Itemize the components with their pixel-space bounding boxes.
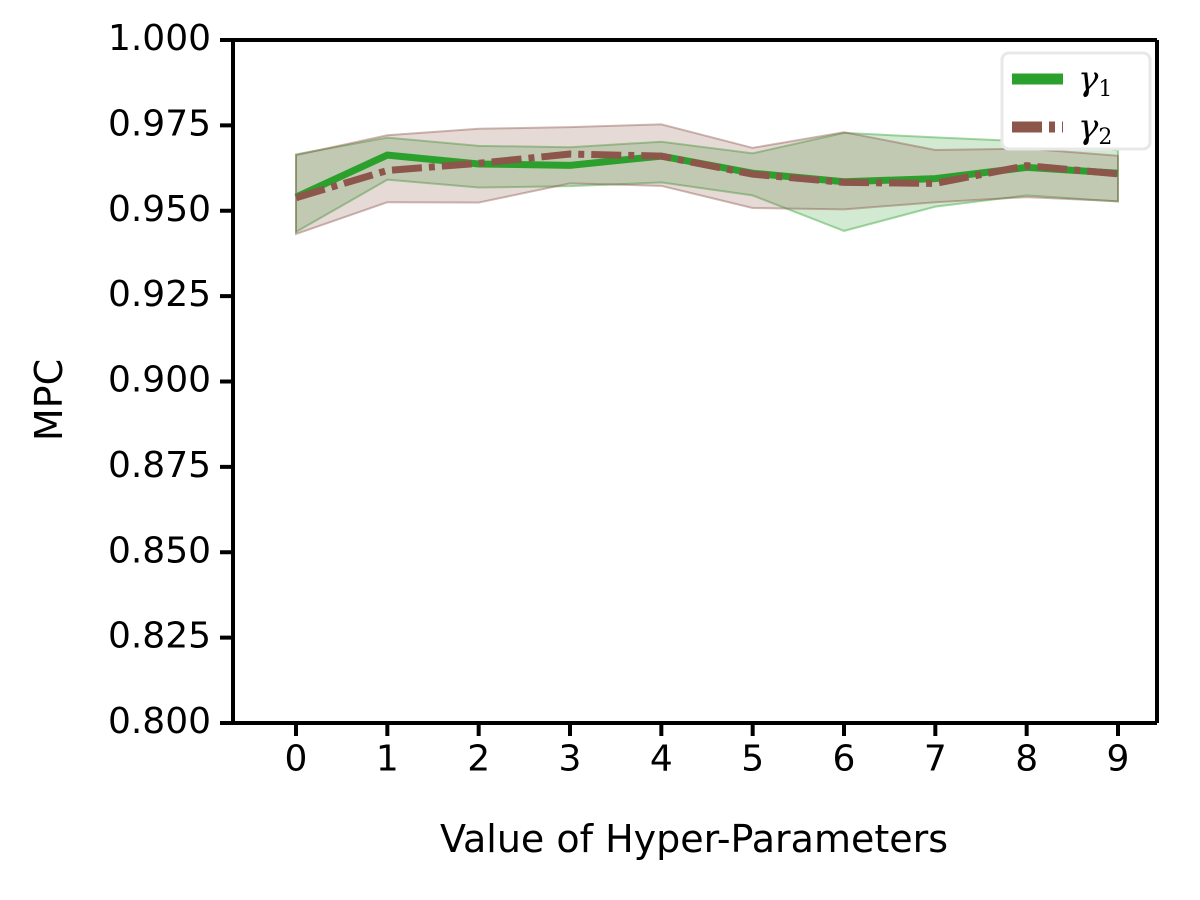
x-tick-label: 2 (467, 739, 490, 780)
y-tick-label: 0.975 (108, 103, 211, 144)
x-tick-label: 0 (285, 739, 308, 780)
x-tick-label: 7 (924, 739, 947, 780)
y-tick-label: 0.825 (108, 616, 211, 657)
y-tick-label: 0.900 (108, 360, 211, 401)
x-tick-label: 5 (741, 739, 764, 780)
x-tick-label: 1 (376, 739, 399, 780)
y-tick-label: 0.850 (108, 530, 211, 571)
y-tick-label: 0.800 (108, 701, 211, 742)
line-chart: 0.8000.8250.8500.8750.9000.9250.9500.975… (0, 0, 1200, 900)
y-tick-label: 0.950 (108, 189, 211, 230)
x-tick-label: 6 (833, 739, 856, 780)
chart-figure: 0.8000.8250.8500.8750.9000.9250.9500.975… (0, 0, 1200, 900)
x-axis-label: Value of Hyper-Parameters (440, 817, 948, 861)
y-tick-label: 0.925 (108, 274, 211, 315)
y-tick-label: 1.000 (108, 18, 211, 59)
chart-legend[interactable]: γ1 γ2 (1002, 53, 1150, 150)
y-axis-label: MPC (27, 359, 71, 441)
x-tick-label: 3 (559, 739, 582, 780)
x-tick-label: 4 (650, 739, 673, 780)
y-tick-label: 0.875 (108, 445, 211, 486)
x-tick-label: 9 (1107, 739, 1130, 780)
x-tick-label: 8 (1015, 739, 1038, 780)
legend-box (1002, 53, 1150, 149)
